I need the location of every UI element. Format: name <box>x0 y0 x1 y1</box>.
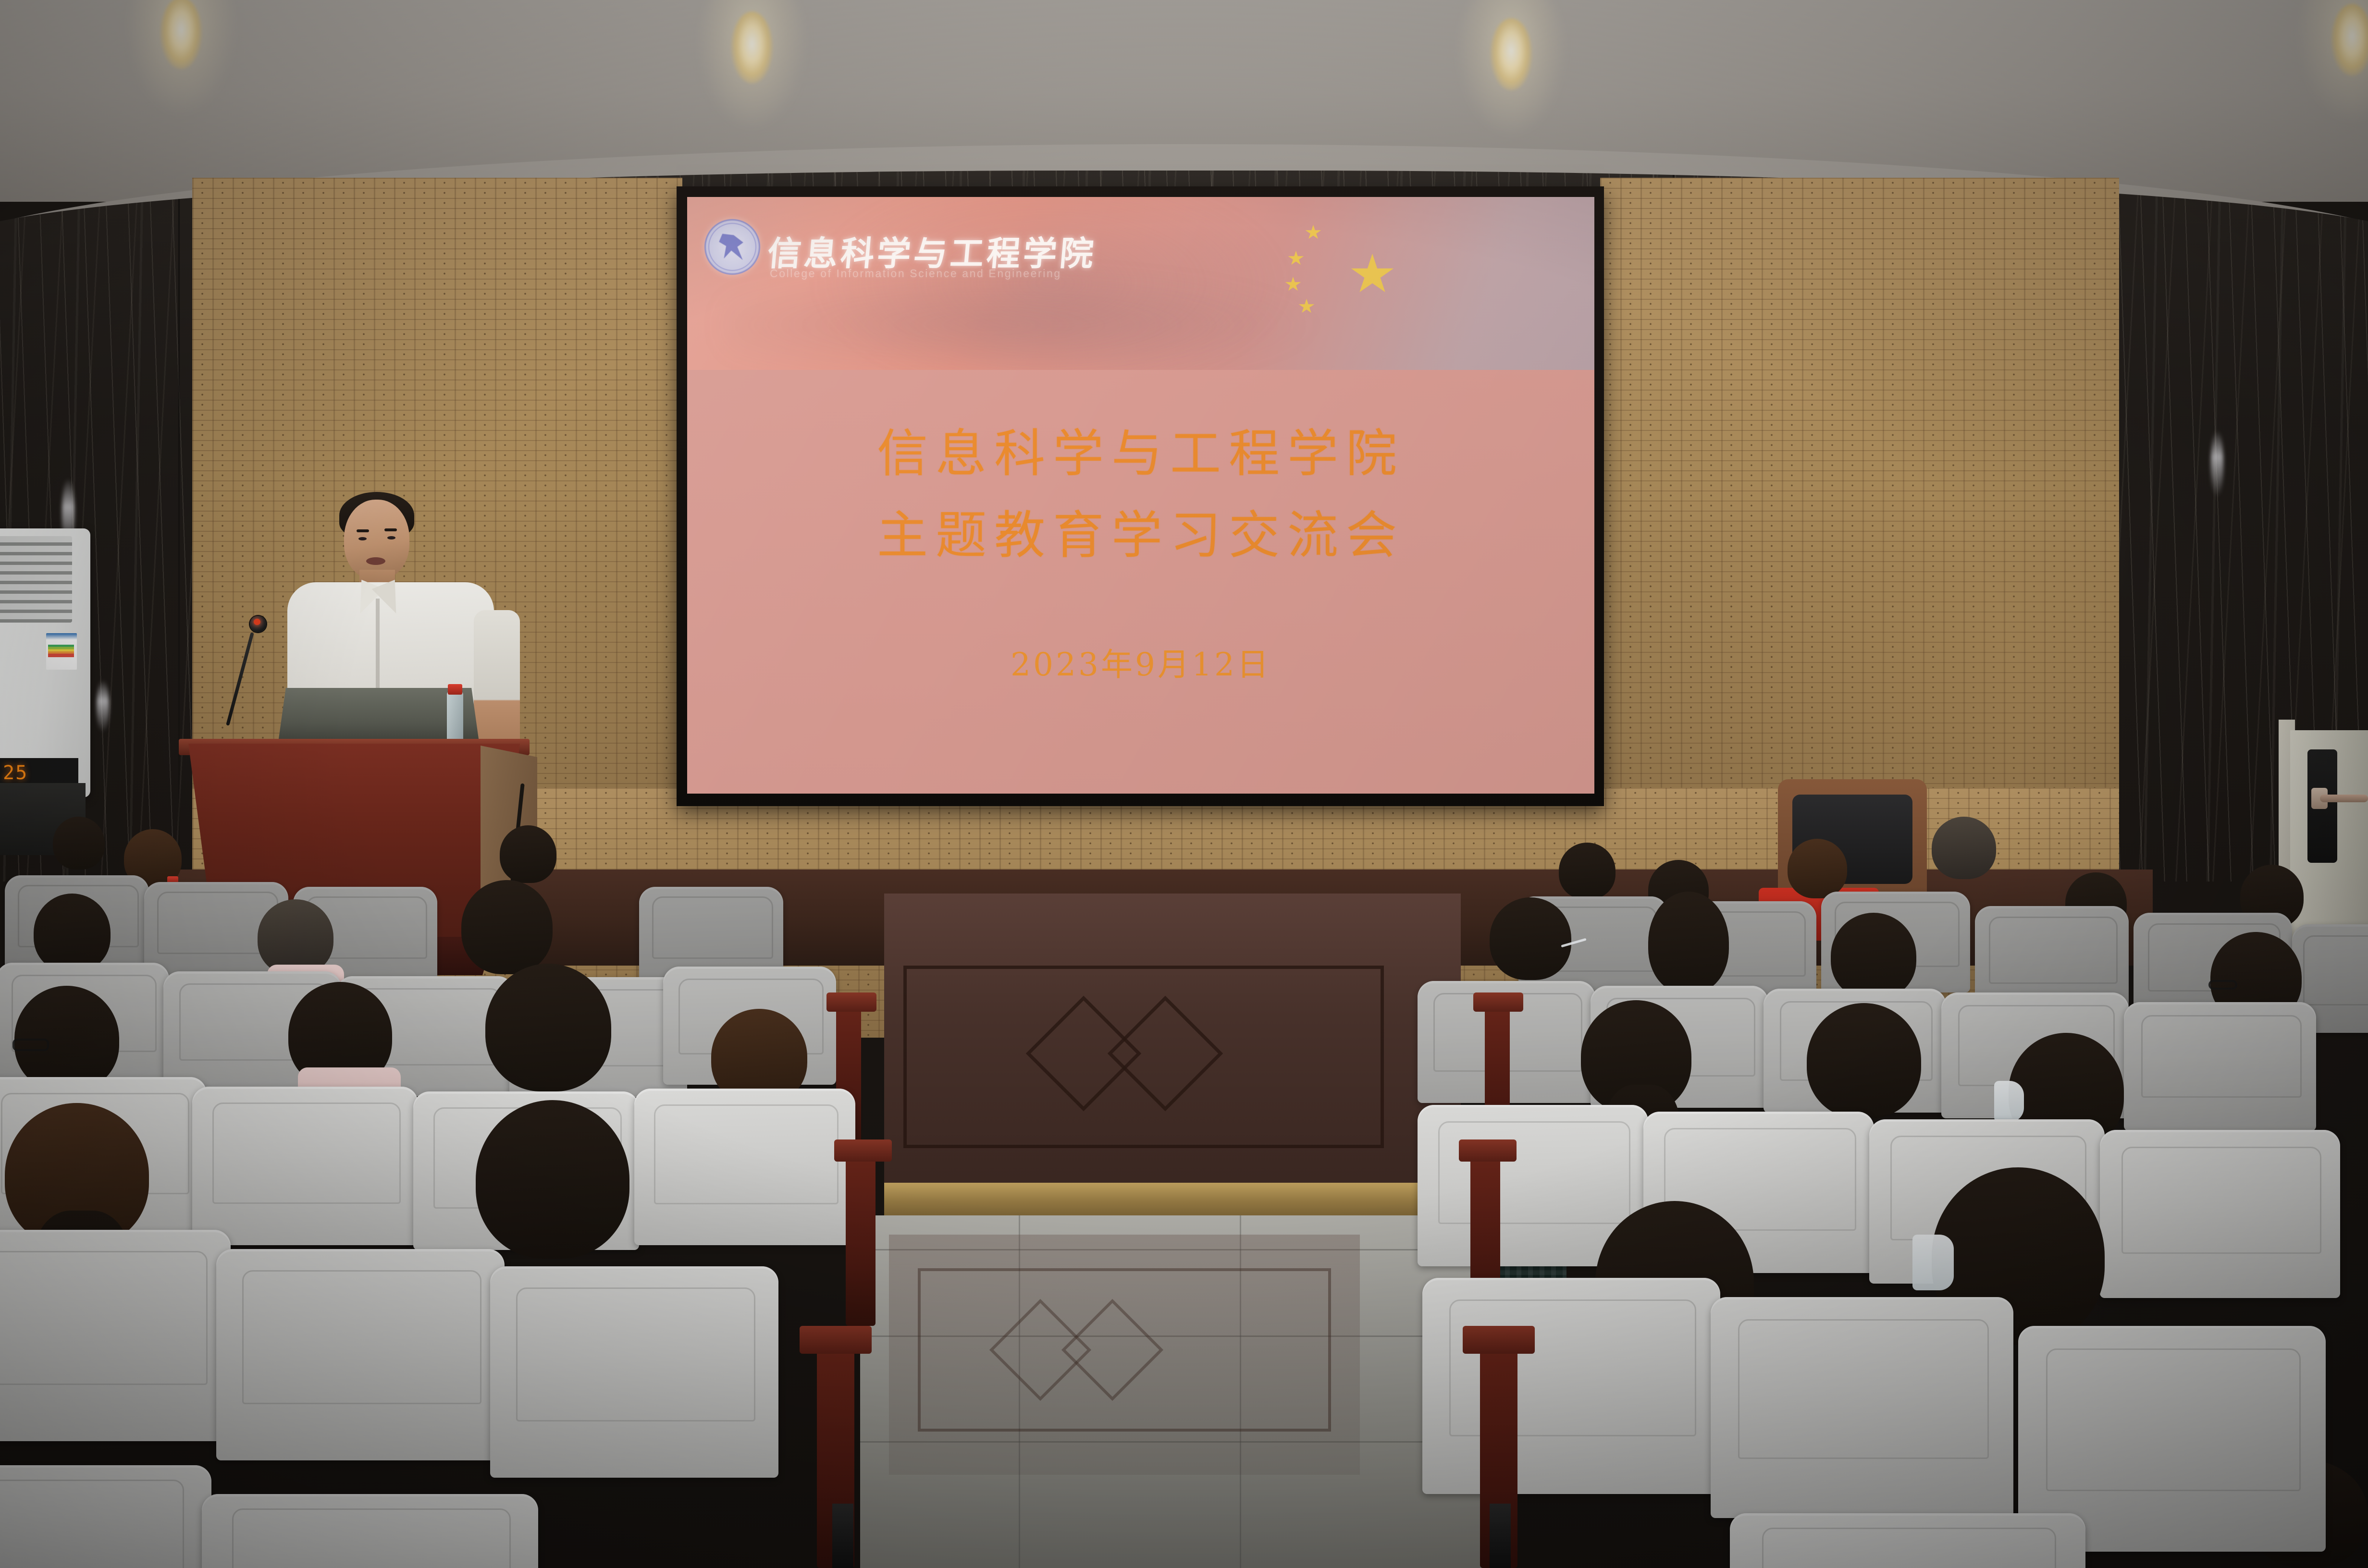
slide-body: 信息科学与工程学院 主题教育学习交流会 2023年9月12日 <box>687 370 1594 794</box>
audience-head <box>1559 843 1616 899</box>
speaker-head <box>344 500 409 579</box>
audience-seat <box>216 1249 505 1460</box>
audience-seat <box>192 1087 418 1245</box>
audience-seat <box>202 1494 538 1568</box>
slide-title-line-2: 主题教育学习交流会 <box>687 494 1594 568</box>
speaker-eye <box>358 537 367 540</box>
seat-leg <box>832 1504 853 1568</box>
slide-date: 2023年9月12日 <box>687 639 1594 685</box>
audience-head <box>1831 913 1916 999</box>
slide-title-line-1: 信息科学与工程学院 <box>687 412 1594 486</box>
slide-surface: 信息科学与工程学院 College of Information Science… <box>687 197 1594 794</box>
audience-seat <box>1711 1297 2013 1518</box>
eyeglasses-icon <box>12 1039 49 1051</box>
seat-arm-top <box>826 992 876 1012</box>
university-seal-icon <box>704 219 760 275</box>
audience-seat <box>0 1230 231 1441</box>
door-handle-icon[interactable] <box>2320 795 2368 802</box>
eyeglasses-icon <box>2208 980 2237 990</box>
face-mask-icon <box>1912 1235 1954 1290</box>
seat-arm-top <box>1473 992 1523 1012</box>
seat-arm-top <box>800 1326 872 1354</box>
air-conditioner-temperature: 25 <box>3 762 28 784</box>
speaker-mouth <box>366 557 385 565</box>
audience-seat <box>1730 1513 2085 1568</box>
seat-arm <box>846 1153 876 1326</box>
floor <box>860 1215 1490 1568</box>
college-logo-name-en: College of Information Science and Engin… <box>770 267 1061 280</box>
speaker-eye <box>387 536 395 539</box>
projection-screen: 信息科学与工程学院 College of Information Science… <box>677 186 1604 806</box>
microphone-led <box>254 619 260 625</box>
audience-head <box>1648 892 1729 993</box>
audience-seat <box>1422 1278 1720 1494</box>
ceiling-light-icon <box>1491 18 1532 90</box>
audience-head <box>1932 817 1996 879</box>
audience-head <box>461 880 553 974</box>
speaker-arm <box>474 610 520 754</box>
stage-front-panel <box>884 894 1461 1201</box>
slide-banner: 信息科学与工程学院 College of Information Science… <box>687 197 1594 370</box>
audience-head <box>1788 839 1847 898</box>
auditorium-photo: 信息科学与工程学院 College of Information Science… <box>0 0 2368 1568</box>
audience-head <box>1490 897 1571 980</box>
audience-head <box>34 894 111 972</box>
ceiling-light-icon <box>731 12 773 84</box>
audience-seat <box>490 1266 778 1478</box>
ceiling-light-icon <box>160 0 202 69</box>
audience-seat <box>2100 1130 2340 1298</box>
water-bottle <box>447 692 463 746</box>
audience-head <box>500 825 556 883</box>
audience-seat <box>0 1465 211 1568</box>
ceiling-light-icon <box>2331 4 2368 76</box>
seat-arm-top <box>834 1139 892 1162</box>
water-bottle-cap <box>448 684 462 695</box>
seat-arm-top <box>1463 1326 1535 1354</box>
audience-head <box>53 817 105 870</box>
face-mask-icon <box>1994 1081 2024 1122</box>
audience-seat <box>2124 1002 2316 1131</box>
air-conditioner-grille <box>0 536 72 623</box>
audience-head <box>1807 1003 1921 1118</box>
stage-kickboard <box>884 1183 1461 1220</box>
audience-seat <box>634 1089 855 1245</box>
audience-head <box>485 964 611 1091</box>
energy-label-bars <box>48 645 74 657</box>
audience-head <box>258 899 333 975</box>
audience-head <box>476 1100 629 1259</box>
seat-arm-top <box>1459 1139 1517 1162</box>
seat-leg <box>1490 1504 1511 1568</box>
